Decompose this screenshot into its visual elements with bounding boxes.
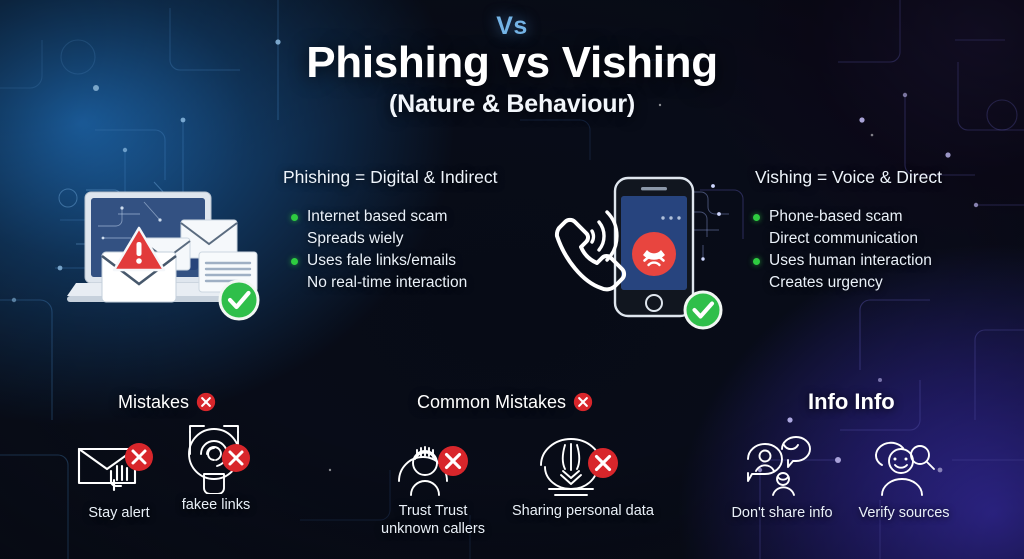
bullet-dot-icon [753,214,760,221]
phishing-points-list: Internet based scam Spreads wiely Uses f… [289,206,467,294]
tile-verify-sources: Verify sources [838,432,970,522]
red-x-circle-icon [572,391,594,413]
tile-sharing-personal-data: Sharing personal data [512,430,644,520]
fingerprint-link-icon [150,424,282,490]
list-item-label: Direct communication [769,230,918,247]
smartphone-call-illustration [551,170,731,325]
red-x-circle-icon [195,391,217,413]
list-item-label: Uses fale links/emails [307,252,456,269]
page-subtitle: (Nature & Behaviour) [0,90,1024,119]
vs-badge: Vs [0,14,1024,39]
list-item: Direct communication [751,228,932,250]
bullet-dot-icon [753,258,760,265]
red-x-circle-icon [438,446,468,476]
tile-caption-line1: fakee links [182,497,251,513]
mistakes-heading-label: Mistakes [118,392,189,413]
list-item: No real-time interaction [289,272,467,294]
red-x-circle-icon [222,444,250,472]
tile-dont-share-info: Don't share info [716,432,848,522]
list-item-label: Uses human interaction [769,252,932,269]
face-id-personal-data-icon [512,430,644,496]
list-item: Phone-based scam [751,206,932,228]
tile-caption: Verify sources [838,504,970,522]
tile-fakee-links: fakee links [150,424,282,514]
bullet-dot-icon [291,214,298,221]
red-x-circle-icon [125,443,153,471]
page-title-block: Vs Phishing vs Vishing (Nature & Behavio… [0,14,1024,119]
list-item: Spreads wiely [289,228,467,250]
tile-caption-line2: unknown callers [367,520,499,538]
list-item: Uses human interaction [751,250,932,272]
list-item-label: Internet based scam [307,208,447,225]
tile-caption: fakee links [150,496,282,514]
info-heading-label: Info Info [808,389,895,415]
list-item-label: Spreads wiely [307,230,404,247]
laptop-phishing-illustration [58,178,273,323]
chat-bubbles-person-icon [716,432,848,498]
list-item: Internet based scam [289,206,467,228]
vishing-heading: Vishing = Voice & Direct [755,167,942,188]
list-item-label: Creates urgency [769,274,883,291]
tile-caption: Sharing personal data [512,502,644,520]
list-item: Uses fale links/emails [289,250,467,272]
tile-caption-line1: Sharing personal data [512,503,654,519]
tile-unknown-callers: Trust Trust unknown callers [367,430,499,538]
list-item-label: No real-time interaction [307,274,467,291]
tile-caption-line1: Trust Trust [367,502,499,520]
person-magnifier-icon [838,432,970,498]
vishing-points-list: Phone-based scam Direct communication Us… [751,206,932,294]
red-x-circle-icon [588,448,618,478]
tile-caption: Trust Trust unknown callers [367,502,499,538]
common-mistakes-heading-label: Common Mistakes [417,392,566,413]
tile-caption: Don't share info [716,504,848,522]
tile-caption-line1: Verify sources [858,505,949,521]
tile-caption-line1: Don't share info [731,505,832,521]
info-section-heading: Info Info [808,389,895,415]
phishing-heading: Phishing = Digital & Indirect [283,167,498,188]
unknown-caller-person-icon [367,430,499,496]
tile-caption-line1: Stay alert [88,505,149,521]
common-mistakes-section-heading: Common Mistakes [417,391,594,413]
bullet-dot-icon [291,258,298,265]
list-item-label: Phone-based scam [769,208,903,225]
infographic-canvas: Vs Phishing vs Vishing (Nature & Behavio… [0,0,1024,559]
mistakes-section-heading: Mistakes [118,391,217,413]
page-title: Phishing vs Vishing [0,40,1024,87]
list-item: Creates urgency [751,272,932,294]
